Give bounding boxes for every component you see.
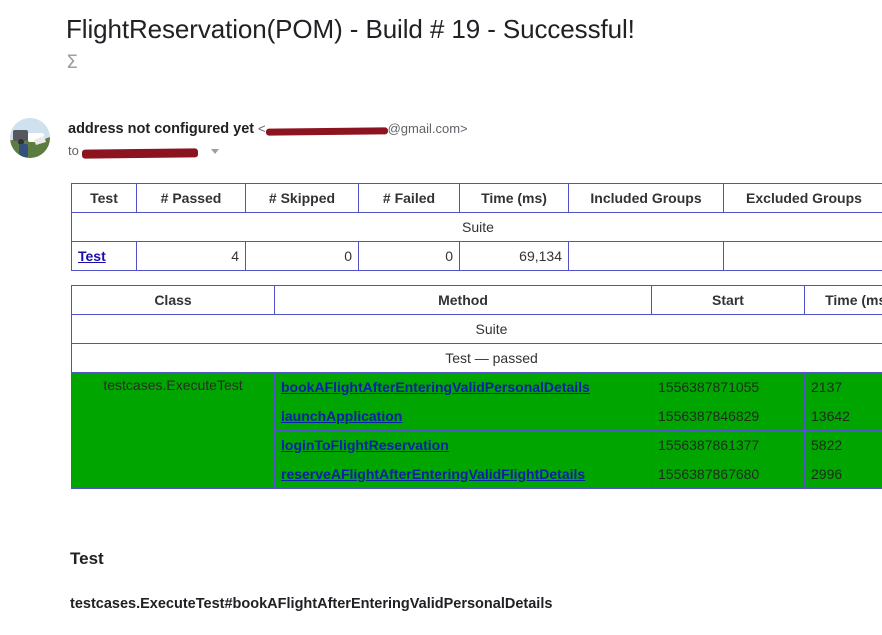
cell-class: testcases.ExecuteTest	[72, 373, 275, 489]
cell-excluded-groups	[724, 242, 882, 271]
suite-band-label: Suite	[72, 213, 882, 242]
col-time: Time (ms)	[460, 184, 569, 213]
to-label: to	[68, 143, 79, 158]
cell-start: 1556387861377	[652, 431, 805, 460]
col-excluded-groups: Excluded Groups	[724, 184, 882, 213]
suite-summary-table: Test # Passed # Skipped # Failed Time (m…	[71, 183, 882, 271]
chevron-down-icon[interactable]	[211, 149, 219, 154]
sender-name: address not configured yet	[68, 121, 254, 137]
cell-time: 5822	[805, 431, 882, 460]
col-time: Time (ms)	[805, 286, 882, 315]
test-band-label: Test — passed	[72, 344, 882, 373]
cell-method: loginToFlightReservation	[275, 431, 652, 460]
suite-band-row: Suite	[72, 213, 882, 242]
col-method: Method	[275, 286, 652, 315]
sender-identity-line: address not configured yet <@gmail.com>	[68, 118, 468, 139]
test-band-row: Test — passed	[72, 344, 882, 373]
cell-time: 2996	[805, 460, 882, 489]
table-header-row: Class Method Start Time (ms)	[72, 286, 882, 315]
method-link[interactable]: reserveAFlightAfterEnteringValidFlightDe…	[281, 466, 585, 482]
table-header-row: Test # Passed # Skipped # Failed Time (m…	[72, 184, 882, 213]
cell-method: bookAFlightAfterEnteringValidPersonalDet…	[275, 373, 652, 402]
cell-test: Test	[72, 242, 137, 271]
table-row: testcases.ExecuteTest bookAFlightAfterEn…	[72, 373, 882, 402]
cell-time: 69,134	[460, 242, 569, 271]
email-subject-block: FlightReservation(POM) - Build # 19 - Su…	[66, 12, 866, 72]
col-included-groups: Included Groups	[569, 184, 724, 213]
cell-method: launchApplication	[275, 402, 652, 431]
method-detail-table: Class Method Start Time (ms) Suite Test …	[71, 285, 882, 489]
sender-address-redaction	[266, 123, 388, 137]
cell-time: 2137	[805, 373, 882, 402]
recipient-redaction	[82, 144, 198, 159]
suite-band-label: Suite	[72, 315, 882, 344]
sender-address: <@gmail.com>	[258, 121, 468, 136]
cell-time: 13642	[805, 402, 882, 431]
col-skipped: # Skipped	[246, 184, 359, 213]
cell-start: 1556387867680	[652, 460, 805, 489]
col-class: Class	[72, 286, 275, 315]
test-detail-section: Test testcases.ExecuteTest#bookAFlightAf…	[70, 548, 870, 612]
cell-method: reserveAFlightAfterEnteringValidFlightDe…	[275, 460, 652, 489]
cell-start: 1556387846829	[652, 402, 805, 431]
sender-header: address not configured yet <@gmail.com> …	[0, 110, 882, 172]
col-passed: # Passed	[137, 184, 246, 213]
section-heading: Test	[70, 548, 870, 570]
method-link[interactable]: bookAFlightAfterEnteringValidPersonalDet…	[281, 379, 590, 395]
col-start: Start	[652, 286, 805, 315]
avatar[interactable]	[10, 118, 50, 158]
sender-address-domain: @gmail.com>	[388, 121, 468, 136]
col-failed: # Failed	[359, 184, 460, 213]
test-link[interactable]: Test	[78, 248, 106, 264]
testng-report: Test # Passed # Skipped # Failed Time (m…	[71, 183, 861, 489]
cell-passed: 4	[137, 242, 246, 271]
cell-failed: 0	[359, 242, 460, 271]
cell-included-groups	[569, 242, 724, 271]
page-title: FlightReservation(POM) - Build # 19 - Su…	[66, 12, 866, 46]
suite-band-row: Suite	[72, 315, 882, 344]
method-link[interactable]: loginToFlightReservation	[281, 437, 449, 453]
sender-address-open-bracket: <	[258, 121, 266, 136]
cell-skipped: 0	[246, 242, 359, 271]
inbox-sigma-icon[interactable]: Σ	[66, 52, 92, 72]
recipient-line[interactable]: to	[68, 141, 219, 161]
col-test: Test	[72, 184, 137, 213]
method-link[interactable]: launchApplication	[281, 408, 402, 424]
cell-start: 1556387871055	[652, 373, 805, 402]
method-fqn: testcases.ExecuteTest#bookAFlightAfterEn…	[70, 596, 870, 612]
table-row: Test 4 0 0 69,134	[72, 242, 882, 271]
